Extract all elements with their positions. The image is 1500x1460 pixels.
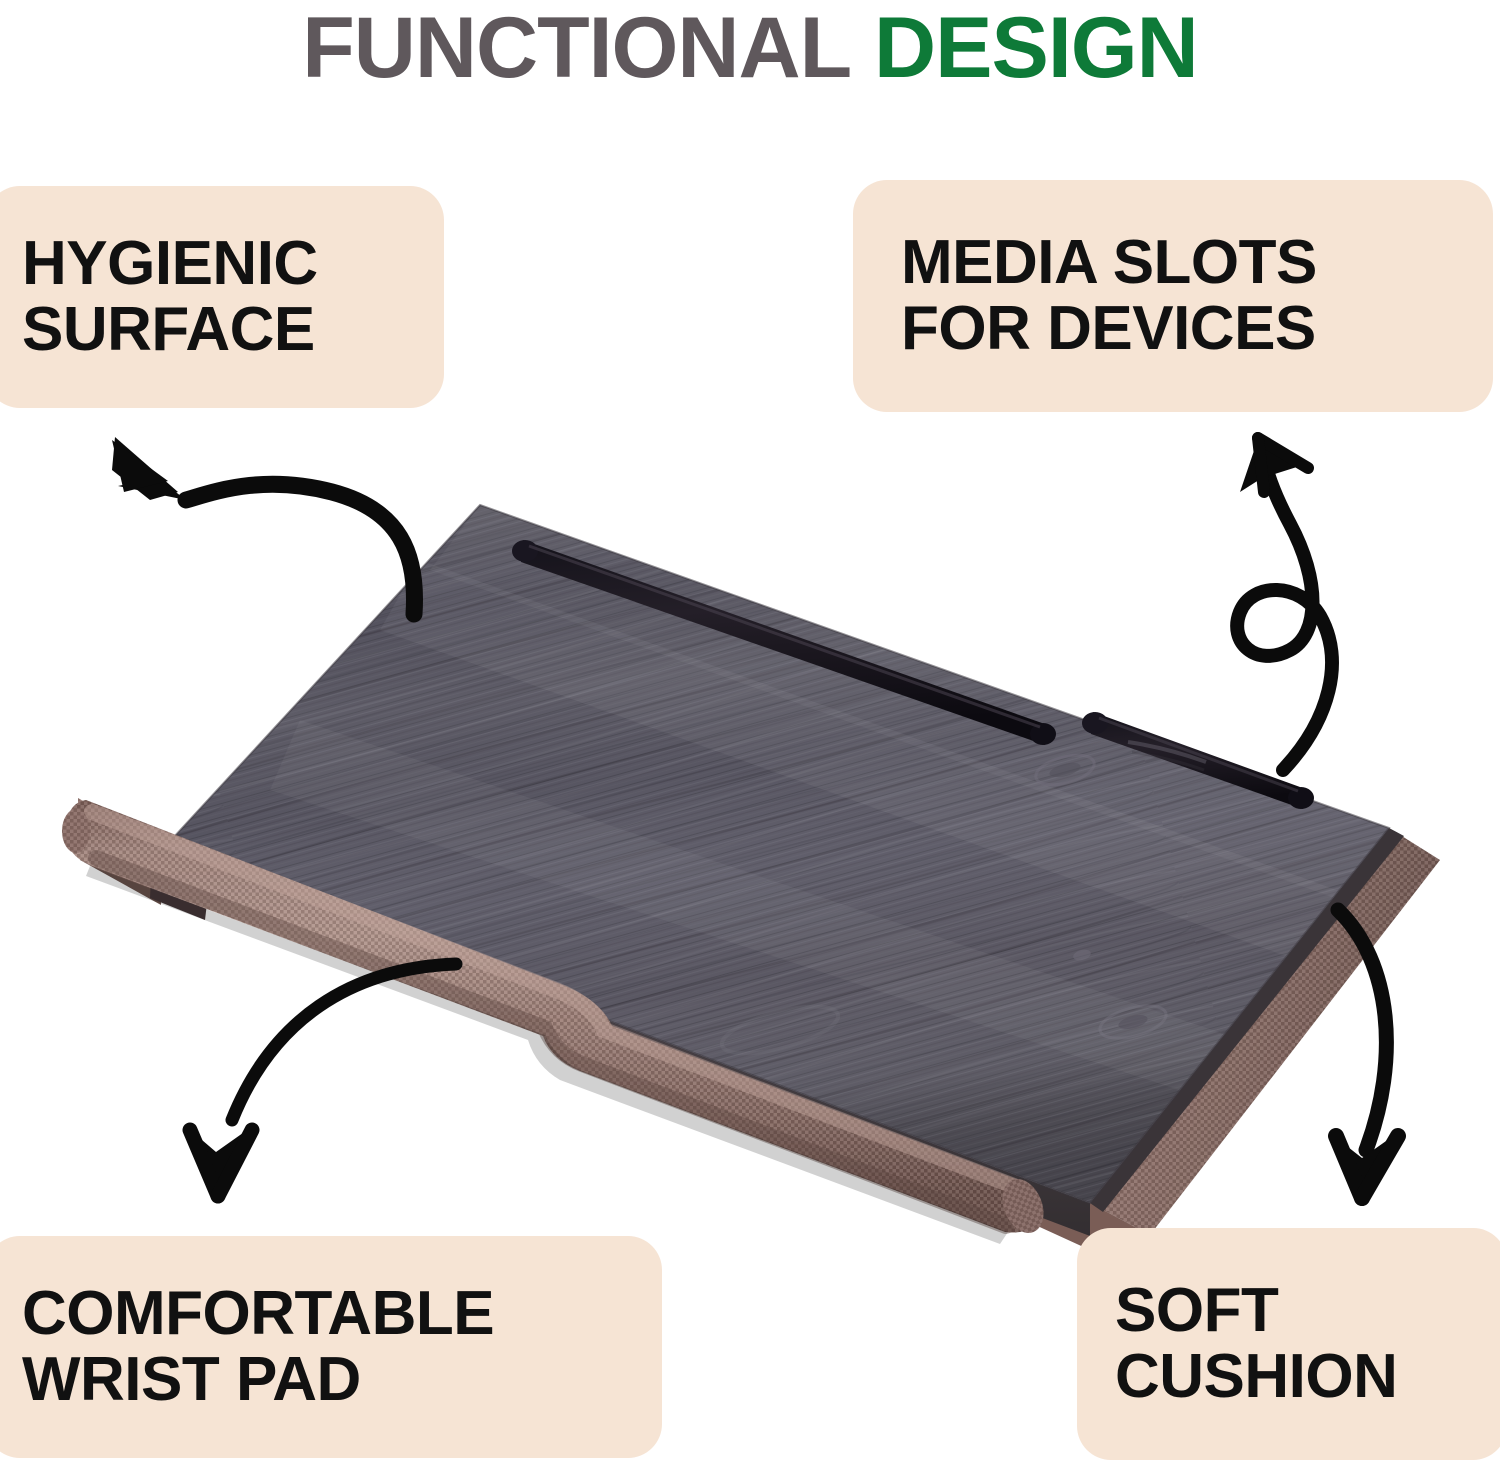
callout-media-slots: MEDIA SLOTS FOR DEVICES — [853, 180, 1493, 412]
callout-media-line-1: MEDIA SLOTS — [901, 230, 1493, 296]
callout-hygienic-line-1: HYGIENIC — [22, 231, 444, 297]
callout-wrist-line-2: WRIST PAD — [22, 1347, 662, 1413]
arrow-hygienic-surface — [112, 437, 415, 614]
arrow-wrist-pad — [188, 964, 456, 1200]
arrow-media-slots — [1237, 436, 1332, 770]
callout-hygienic-line-2: SURFACE — [22, 297, 444, 363]
callout-cushion-line-1: SOFT — [1115, 1278, 1500, 1344]
infographic-root: FUNCTIONAL DESIGN — [0, 0, 1500, 1460]
callout-hygienic-surface: HYGIENIC SURFACE — [0, 186, 444, 408]
callout-cushion-line-2: CUSHION — [1115, 1344, 1500, 1410]
callout-comfortable-wrist-pad: COMFORTABLE WRIST PAD — [0, 1236, 662, 1458]
callout-media-line-2: FOR DEVICES — [901, 296, 1493, 362]
arrow-soft-cushion — [1334, 910, 1398, 1200]
callout-soft-cushion: SOFT CUSHION — [1077, 1228, 1500, 1460]
callout-wrist-line-1: COMFORTABLE — [22, 1281, 662, 1347]
